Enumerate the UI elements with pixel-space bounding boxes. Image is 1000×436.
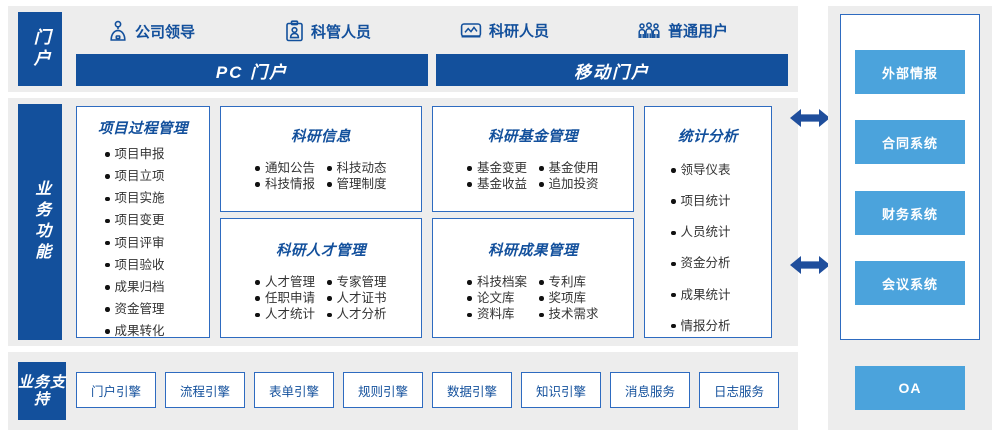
portal-layer-label: 门户 (18, 12, 62, 86)
statistics-list: 领导仪表 项目统计 人员统计 资金分析 成果统计 情报分析 (645, 164, 771, 333)
achievement-management-col1: 科技档案 论文库 资料库 (467, 276, 527, 324)
list-item: 项目统计 (671, 195, 771, 208)
list-item: 专利库 (539, 276, 599, 289)
list-item: 资金分析 (671, 257, 771, 270)
integration-arrow-top (788, 105, 832, 136)
list-item: 成果转化 (105, 325, 209, 338)
list-item: 科技档案 (467, 276, 527, 289)
list-item: 人才分析 (327, 308, 387, 321)
list-item: 人员统计 (671, 226, 771, 239)
engine-chip-knowledge[interactable]: 知识引擎 (521, 372, 601, 408)
list-item: 基金收益 (467, 178, 527, 191)
function-layer-label: 业务功能 (18, 104, 62, 340)
card-research-info: 科研信息 通知公告 科技情报 科技动态 管理制度 (220, 106, 422, 212)
talent-management-col1: 人才管理 任职申请 人才统计 (255, 276, 315, 324)
list-item: 论文库 (467, 292, 527, 305)
double-arrow-horizontal-icon (788, 252, 832, 278)
role-researcher: 科研人员 (460, 20, 549, 41)
double-arrow-horizontal-icon (788, 105, 832, 131)
card-talent-management: 科研人才管理 人才管理 任职申请 人才统计 专家管理 人才证书 人才分析 (220, 218, 422, 338)
engine-chip-form[interactable]: 表单引擎 (254, 372, 334, 408)
system-box-meeting[interactable]: 会议系统 (855, 261, 965, 305)
system-box-finance[interactable]: 财务系统 (855, 191, 965, 235)
list-item: 项目立项 (105, 170, 209, 183)
fund-management-col1: 基金变更 基金收益 (467, 162, 527, 194)
list-item: 人才统计 (255, 308, 315, 321)
support-layer-label: 业务支持 (18, 362, 66, 420)
list-item: 资料库 (467, 308, 527, 321)
card-title: 科研人才管理 (221, 239, 421, 260)
architecture-diagram: 门户 公司领导 科管人员 (0, 0, 1000, 436)
list-item: 成果归档 (105, 281, 209, 294)
engine-chip-rule[interactable]: 规则引擎 (343, 372, 423, 408)
list-item: 技术需求 (539, 308, 599, 321)
list-item: 科技情报 (255, 178, 315, 191)
role-company-leader: 公司领导 (108, 20, 195, 42)
list-item: 基金使用 (539, 162, 599, 175)
system-box-external-intel[interactable]: 外部情报 (855, 50, 965, 94)
system-box-oa[interactable]: OA (855, 366, 965, 410)
research-info-col1: 通知公告 科技情报 (255, 162, 315, 194)
list-item: 基金变更 (467, 162, 527, 175)
list-item: 管理制度 (327, 178, 387, 191)
card-title: 科研基金管理 (433, 125, 633, 146)
card-achievement-management: 科研成果管理 科技档案 论文库 资料库 专利库 奖项库 技术需求 (432, 218, 634, 338)
engine-chip-process[interactable]: 流程引擎 (165, 372, 245, 408)
role-label: 科管人员 (311, 21, 371, 42)
list-item: 通知公告 (255, 162, 315, 175)
role-research-admin: 科管人员 (285, 20, 371, 42)
list-item: 资金管理 (105, 303, 209, 316)
list-item: 项目验收 (105, 259, 209, 272)
engine-chip-portal[interactable]: 门户引擎 (76, 372, 156, 408)
card-title: 统计分析 (645, 125, 771, 146)
user-leader-icon (108, 20, 128, 42)
card-statistics: 统计分析 领导仪表 项目统计 人员统计 资金分析 成果统计 情报分析 (644, 106, 772, 338)
achievement-management-col2: 专利库 奖项库 技术需求 (539, 276, 599, 324)
research-info-col2: 科技动态 管理制度 (327, 162, 387, 194)
list-item: 追加投资 (539, 178, 599, 191)
list-item: 任职申请 (255, 292, 315, 305)
mobile-portal-bar[interactable]: 移动门户 (436, 54, 788, 86)
list-item: 人才管理 (255, 276, 315, 289)
list-item: 项目评审 (105, 237, 209, 250)
list-item: 项目变更 (105, 214, 209, 227)
fund-management-col2: 基金使用 追加投资 (539, 162, 599, 194)
card-title: 科研成果管理 (433, 239, 633, 260)
id-badge-icon (285, 20, 304, 42)
engine-chip-log[interactable]: 日志服务 (699, 372, 779, 408)
list-item: 人才证书 (327, 292, 387, 305)
pc-portal-bar[interactable]: PC 门户 (76, 54, 428, 86)
list-item: 科技动态 (327, 162, 387, 175)
role-label: 公司领导 (135, 21, 195, 42)
role-label: 科研人员 (489, 20, 549, 41)
list-item: 领导仪表 (671, 164, 771, 177)
user-group-icon (637, 21, 661, 41)
list-item: 项目申报 (105, 148, 209, 161)
list-item: 项目实施 (105, 192, 209, 205)
card-fund-management: 科研基金管理 基金变更 基金收益 基金使用 追加投资 (432, 106, 634, 212)
list-item: 奖项库 (539, 292, 599, 305)
card-title: 科研信息 (221, 125, 421, 146)
talent-management-col2: 专家管理 人才证书 人才分析 (327, 276, 387, 324)
card-title: 项目过程管理 (77, 117, 209, 138)
chart-monitor-icon (460, 21, 482, 41)
list-item: 专家管理 (327, 276, 387, 289)
engine-chip-data[interactable]: 数据引擎 (432, 372, 512, 408)
list-item: 成果统计 (671, 289, 771, 302)
engine-chip-message[interactable]: 消息服务 (610, 372, 690, 408)
card-project-process: 项目过程管理 项目申报 项目立项 项目实施 项目变更 项目评审 项目验收 成果归… (76, 106, 210, 338)
list-item: 情报分析 (671, 320, 771, 333)
role-label: 普通用户 (668, 20, 728, 41)
project-process-list: 项目申报 项目立项 项目实施 项目变更 项目评审 项目验收 成果归档 资金管理 … (77, 148, 209, 338)
integration-arrow-bottom (788, 252, 832, 283)
system-box-contract[interactable]: 合同系统 (855, 120, 965, 164)
role-general-user: 普通用户 (637, 20, 728, 41)
